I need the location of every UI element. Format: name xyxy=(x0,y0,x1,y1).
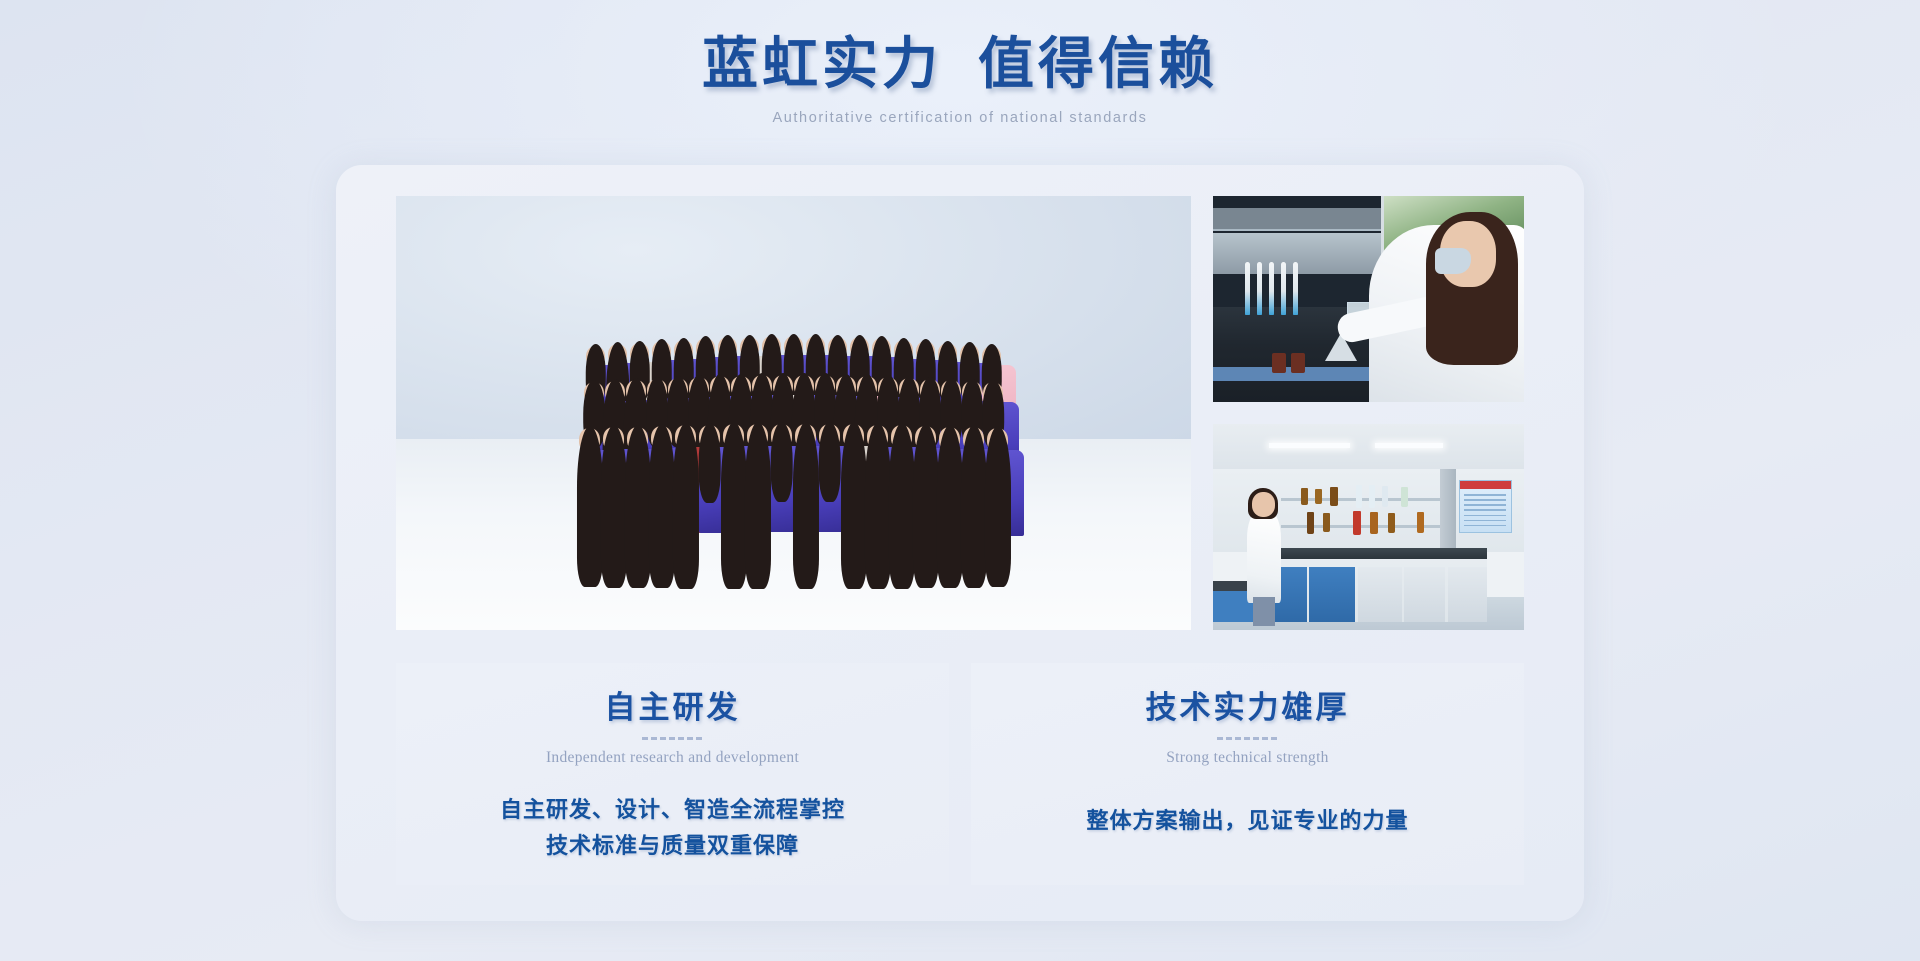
staff-member xyxy=(819,424,840,536)
staff-member xyxy=(915,426,936,536)
island-bench xyxy=(1257,548,1487,622)
lab-technician-photo[interactable] xyxy=(1213,196,1524,402)
card-body-text: 整体方案输出，见证专业的力量 xyxy=(971,803,1524,839)
page-subtitle: Authoritative certification of national … xyxy=(0,110,1920,126)
staff-member xyxy=(627,427,648,536)
staff-member xyxy=(651,426,672,536)
card-title: 技术实力雄厚 xyxy=(971,689,1524,726)
staff-member xyxy=(891,425,912,536)
feature-card-independent-rd[interactable]: 自主研发 Independent research and developmen… xyxy=(396,663,949,885)
staff-member xyxy=(939,427,960,536)
staff-member xyxy=(771,424,792,536)
staff-member xyxy=(867,425,888,536)
feature-cards: 自主研发 Independent research and developmen… xyxy=(396,663,1524,885)
staff-member xyxy=(579,428,600,536)
staff-member xyxy=(723,424,744,536)
card-subtitle: Independent research and development xyxy=(396,749,949,767)
staff-member xyxy=(963,427,984,536)
staff-member xyxy=(603,427,624,536)
staff-member xyxy=(675,425,696,536)
staff-member xyxy=(795,424,816,536)
poster-header-bar xyxy=(1460,481,1511,489)
safety-poster xyxy=(1459,480,1512,534)
dashed-divider-icon xyxy=(1217,737,1279,740)
staff-member xyxy=(699,425,720,536)
dashed-divider-icon xyxy=(642,737,704,740)
media-gallery xyxy=(396,196,1524,630)
laboratory-room-scene xyxy=(1213,424,1524,630)
laboratory-room-photo[interactable] xyxy=(1213,424,1524,630)
content-panel: 自主研发 Independent research and developmen… xyxy=(336,165,1584,921)
island-bench-top xyxy=(1257,548,1487,560)
staff-row xyxy=(396,428,1191,536)
lab-worker-legs xyxy=(1253,597,1275,626)
reagent-shelf-unit xyxy=(1281,478,1443,532)
card-subtitle: Strong technical strength xyxy=(971,749,1524,767)
page-title: 蓝虹实力 值得信赖 xyxy=(0,30,1920,100)
staff-member xyxy=(987,428,1008,536)
ceiling xyxy=(1213,424,1524,469)
pipette-rack xyxy=(1241,262,1316,316)
feature-card-technical-strength[interactable]: 技术实力雄厚 Strong technical strength 整体方案输出，… xyxy=(971,663,1524,885)
lab-worker-head xyxy=(1252,492,1275,517)
staff-member xyxy=(843,424,864,536)
face-mask xyxy=(1435,248,1471,274)
card-title: 自主研发 xyxy=(396,689,949,726)
staff-member xyxy=(747,424,768,536)
company-group-photo[interactable] xyxy=(396,196,1191,630)
page-header: 蓝虹实力 值得信赖 Authoritative certification of… xyxy=(0,0,1920,126)
card-body-text: 自主研发、设计、智造全流程掌控 技术标准与质量双重保障 xyxy=(396,792,949,865)
lab-technician-scene xyxy=(1213,196,1524,402)
side-photo-column xyxy=(1213,196,1524,630)
lab-worker-coat xyxy=(1247,513,1281,604)
staff-crowd xyxy=(396,196,1191,630)
